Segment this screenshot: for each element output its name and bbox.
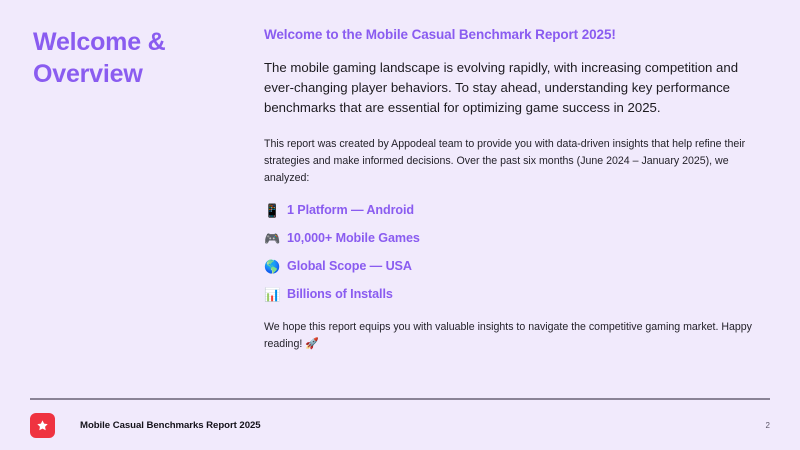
list-item: 📱 1 Platform — Android xyxy=(264,203,752,217)
slide-canvas: Welcome & Overview Welcome to the Mobile… xyxy=(0,0,800,450)
fact-label: 10,000+ Mobile Games xyxy=(287,231,420,245)
bar-chart-icon: 📊 xyxy=(264,288,280,301)
closing-paragraph: We hope this report equips you with valu… xyxy=(264,319,752,354)
footer-divider xyxy=(30,398,770,400)
content-column: Welcome to the Mobile Casual Benchmark R… xyxy=(264,26,752,354)
fact-label: Billions of Installs xyxy=(287,287,393,301)
fact-label: Global Scope — USA xyxy=(287,259,412,273)
mobile-phone-icon: 📱 xyxy=(264,204,280,217)
footer-title: Mobile Casual Benchmarks Report 2025 xyxy=(80,420,261,431)
globe-americas-icon: 🌎 xyxy=(264,260,280,273)
page-title: Welcome & Overview xyxy=(33,26,238,90)
rocket-icon: 🚀 xyxy=(305,338,319,350)
fact-list: 📱 1 Platform — Android 🎮 10,000+ Mobile … xyxy=(264,203,752,301)
lead-paragraph: The mobile gaming landscape is evolving … xyxy=(264,58,752,118)
slide-title-block: Welcome & Overview xyxy=(33,26,238,90)
list-item: 🌎 Global Scope — USA xyxy=(264,259,752,273)
page-number: 2 xyxy=(766,421,770,430)
star-icon xyxy=(36,419,49,432)
list-item: 📊 Billions of Installs xyxy=(264,287,752,301)
list-item: 🎮 10,000+ Mobile Games xyxy=(264,231,752,245)
brand-logo xyxy=(30,413,55,438)
fact-label: 1 Platform — Android xyxy=(287,203,414,217)
sub-paragraph: This report was created by Appodeal team… xyxy=(264,136,752,187)
content-heading: Welcome to the Mobile Casual Benchmark R… xyxy=(264,26,752,44)
game-controller-icon: 🎮 xyxy=(264,232,280,245)
closing-paragraph-text: We hope this report equips you with valu… xyxy=(264,321,752,350)
footer: Mobile Casual Benchmarks Report 2025 2 xyxy=(30,410,770,440)
